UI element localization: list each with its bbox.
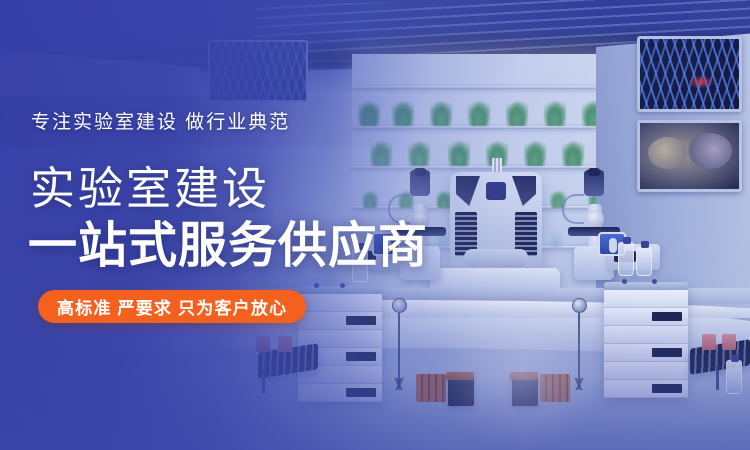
banner-headline-line-2: 一站式服务供应商 [28, 222, 428, 271]
banner-headline-line-1: 实验室建设 [30, 166, 270, 211]
banner-subtitle: 专注实验室建设 做行业典范 [31, 107, 290, 134]
banner-content: 专注实验室建设 做行业典范 实验室建设 一站式服务供应商 高标准 严要求 只为客… [0, 0, 750, 450]
cta-badge[interactable]: 高标准 严要求 只为客户放心 [38, 290, 306, 323]
promotional-banner: 专注实验室建设 做行业典范 实验室建设 一站式服务供应商 高标准 严要求 只为客… [0, 0, 750, 450]
